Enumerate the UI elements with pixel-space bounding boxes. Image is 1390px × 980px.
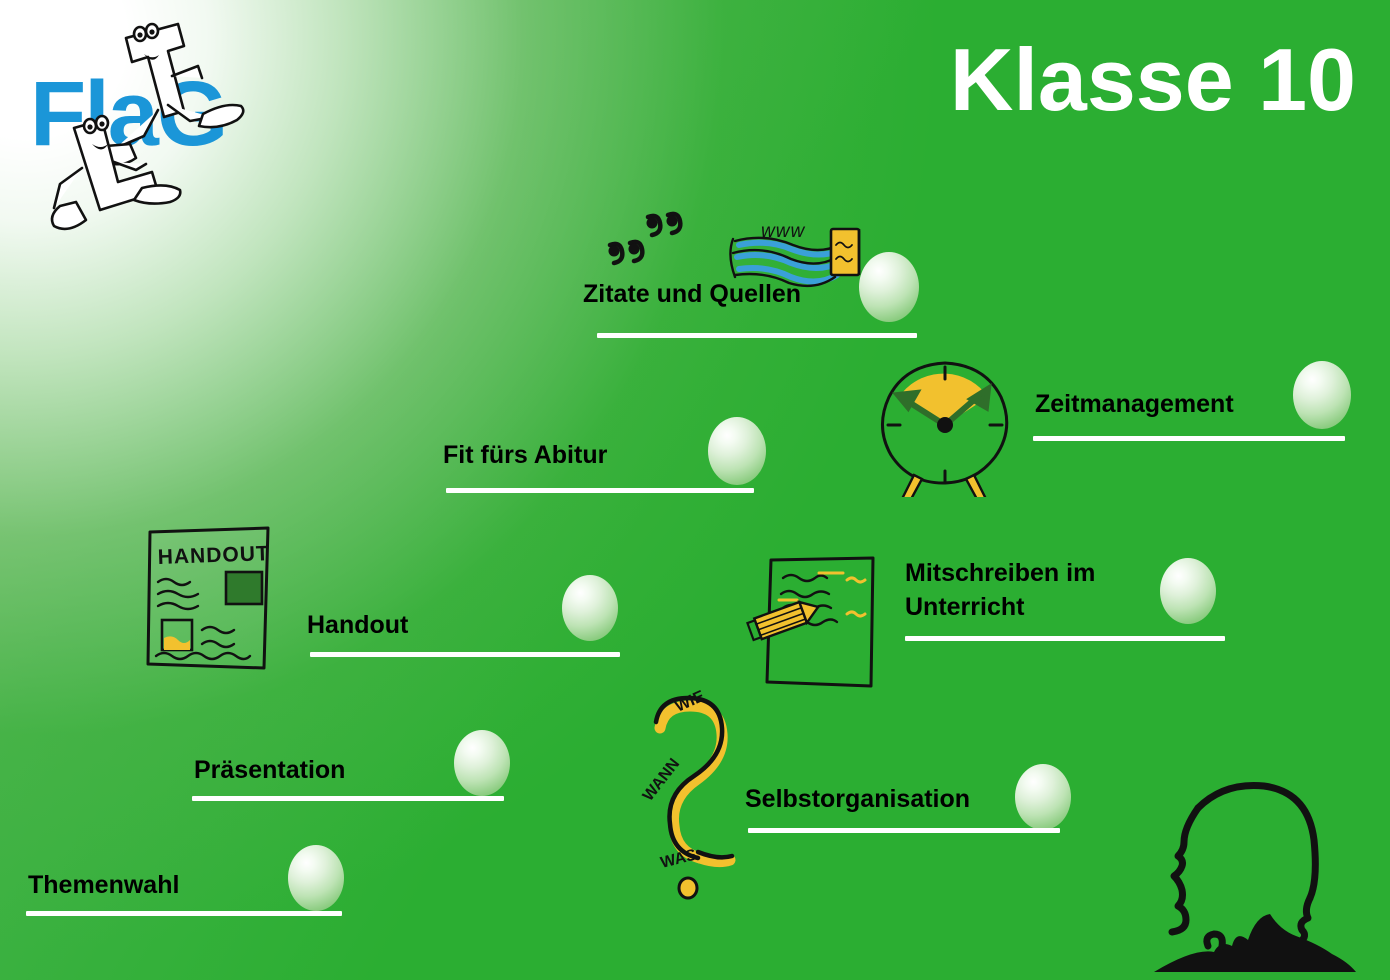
topic-rule <box>905 636 1225 641</box>
topic-rule <box>26 911 342 916</box>
topic-bullet[interactable] <box>708 417 766 485</box>
logo-mascot-letters-icon <box>18 10 318 240</box>
topic-zeitmanagement[interactable]: Zeitmanagement <box>865 352 1365 502</box>
topic-rule <box>1033 436 1345 441</box>
topic-rule <box>192 796 504 801</box>
question-label-was: WAS <box>659 846 699 871</box>
question-mark-icon: WIE WANN WAS <box>640 690 760 905</box>
topic-rule <box>310 652 620 657</box>
topic-rule <box>446 488 754 493</box>
topic-bullet[interactable] <box>1293 361 1351 429</box>
head-profile-silhouette-icon <box>1150 760 1360 980</box>
topic-bullet[interactable] <box>562 575 618 641</box>
topic-label: Handout <box>307 608 408 642</box>
topic-zitate-und-quellen[interactable]: www Zitate und Quelle <box>575 205 935 355</box>
topic-rule <box>748 828 1060 833</box>
topic-bullet[interactable] <box>859 252 919 322</box>
handout-sheet-title: HANDOUT <box>157 542 270 569</box>
topic-bullet[interactable] <box>1015 764 1071 830</box>
topic-mitschreiben-im-unterricht[interactable]: Mitschreiben im Unterricht <box>745 548 1245 698</box>
topic-fit-fuers-abitur[interactable]: Fit fürs Abitur <box>438 415 768 505</box>
topic-rule <box>597 333 917 338</box>
topic-bullet[interactable] <box>1160 558 1216 624</box>
page-title: Klasse 10 <box>950 36 1356 124</box>
school-logo[interactable]: FlaG <box>18 10 318 240</box>
topic-label: Mitschreiben im Unterricht <box>905 556 1095 624</box>
topic-selbstorganisation[interactable]: WIE WANN WAS Selbstorganisation <box>640 690 1070 905</box>
poster-canvas: FlaG <box>0 0 1390 980</box>
topic-label: Selbstorganisation <box>745 782 970 816</box>
alarm-clock-icon <box>870 357 1020 497</box>
topic-label: Zitate und Quellen <box>583 277 801 311</box>
topic-bullet[interactable] <box>288 845 344 911</box>
topic-praesentation[interactable]: Präsentation <box>192 730 512 820</box>
notepad-pencil-icon <box>745 548 880 693</box>
handout-sheet-icon: HANDOUT <box>140 520 280 675</box>
topic-handout[interactable]: HANDOUT Handout <box>140 520 640 680</box>
topic-label: Präsentation <box>194 753 345 787</box>
topic-label: Themenwahl <box>28 868 179 902</box>
topic-label: Zeitmanagement <box>1035 387 1234 421</box>
topic-bullet[interactable] <box>454 730 510 796</box>
topic-label: Fit fürs Abitur <box>443 438 607 472</box>
quote-marks-icon <box>590 205 710 285</box>
topic-themenwahl[interactable]: Themenwahl <box>26 845 346 935</box>
